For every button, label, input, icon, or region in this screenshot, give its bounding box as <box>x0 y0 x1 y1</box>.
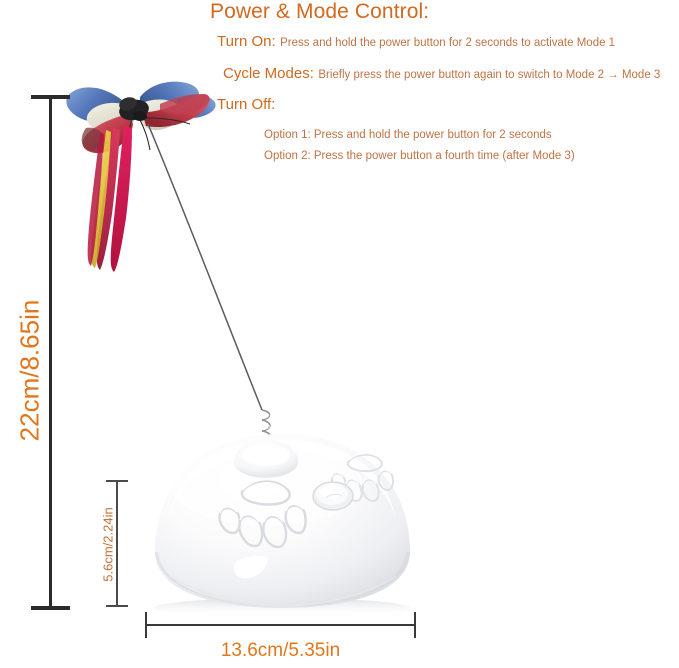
dimension-cap-bottom <box>31 606 70 610</box>
paw-print-emboss <box>332 455 393 501</box>
dimension-label-base-height: 5.6cm/2.24in <box>101 480 116 610</box>
instruction-option-1: Option 1: Press and hold the power butto… <box>264 129 552 141</box>
instruction-label: Turn On: <box>217 33 276 50</box>
power-button <box>313 482 353 510</box>
instruction-turn-off: Turn Off: <box>217 96 275 114</box>
dimension-cap-right <box>414 612 416 638</box>
instruction-cycle-modes: Cycle Modes: Briefly press the power but… <box>223 65 660 83</box>
rotating-base-unit <box>154 434 410 618</box>
instruction-label: Cycle Modes: <box>223 65 314 82</box>
dimension-label-total-height: 22cm/8.65in <box>15 271 46 471</box>
instruction-text: Press and hold the power button for 2 se… <box>280 37 615 49</box>
instruction-label: Turn Off: <box>217 96 275 113</box>
instruction-option-2: Option 2: Press the power button a fourt… <box>264 150 575 162</box>
page-title: Power & Mode Control: <box>210 0 429 24</box>
instruction-text: Briefly press the power button again to … <box>318 69 660 81</box>
instruction-panel: Power & Mode Control: Turn On: Press and… <box>210 0 679 180</box>
dimension-line <box>145 624 416 626</box>
dimension-line <box>49 97 52 609</box>
product-spec-image: Power & Mode Control: Turn On: Press and… <box>0 0 679 668</box>
dimension-line <box>116 481 118 606</box>
butterfly-lure <box>66 82 215 272</box>
instruction-turn-on: Turn On: Press and hold the power button… <box>217 33 615 51</box>
dimension-label-base-width: 13.6cm/5.35in <box>145 640 416 662</box>
paw-print-emboss <box>220 481 306 547</box>
spring-coil <box>262 410 272 463</box>
